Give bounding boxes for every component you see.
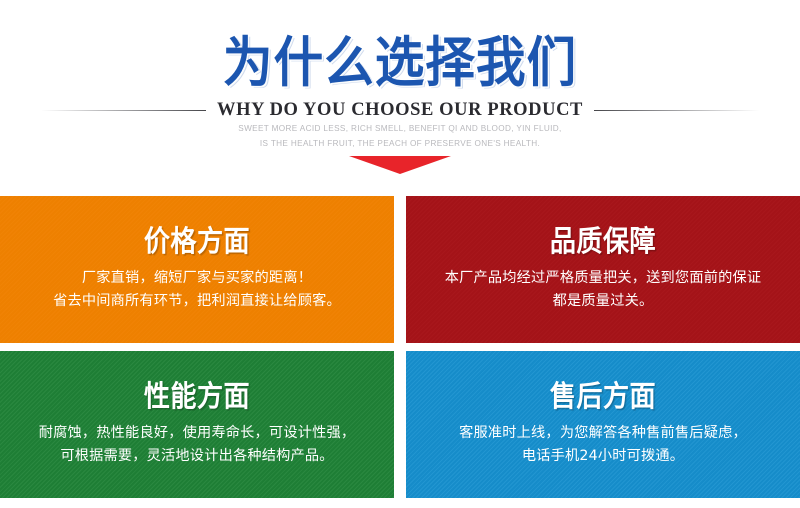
feature-card-line-2: 省去中间商所有环节，把利润直接让给顾客。 (0, 290, 394, 313)
feature-card-line-1: 厂家直销，缩短厂家与买家的距离！ (0, 267, 394, 290)
down-arrow-icon (349, 156, 451, 174)
banner-header: 为什么选择我们 WHY DO YOU CHOOSE OUR PRODUCT SW… (0, 0, 800, 190)
feature-card-line-1: 耐腐蚀，热性能良好，使用寿命长，可设计性强， (0, 422, 394, 445)
english-subtitle-row: WHY DO YOU CHOOSE OUR PRODUCT (0, 98, 800, 122)
feature-card-title: 价格方面 (20, 224, 375, 258)
feature-card-line-2: 电话手机24小时可拨通。 (406, 445, 800, 468)
rule-left-decoration (41, 110, 206, 111)
tagline-block: SWEET MORE ACID LESS, RICH SMELL, BENEFI… (0, 122, 800, 151)
feature-card-line-2: 都是质量过关。 (406, 290, 800, 313)
why-choose-us-banner: 为什么选择我们 WHY DO YOU CHOOSE OUR PRODUCT SW… (0, 0, 800, 508)
feature-card-price[interactable]: 价格方面 厂家直销，缩短厂家与买家的距离！ 省去中间商所有环节，把利润直接让给顾… (0, 196, 394, 343)
feature-card-title: 品质保障 (426, 224, 781, 258)
feature-card-body: 本厂产品均经过严格质量把关，送到您面前的保证 都是质量过关。 (406, 267, 800, 313)
feature-card-body: 耐腐蚀，热性能良好，使用寿命长，可设计性强， 可根据需要，灵活地设计出各种结构产… (0, 422, 394, 468)
feature-card-grid: 价格方面 厂家直销，缩短厂家与买家的距离！ 省去中间商所有环节，把利润直接让给顾… (0, 196, 800, 508)
feature-card-line-2: 可根据需要，灵活地设计出各种结构产品。 (0, 445, 394, 468)
rule-right-decoration (594, 110, 759, 111)
feature-card-line-1: 本厂产品均经过严格质量把关，送到您面前的保证 (406, 267, 800, 290)
feature-card-after-sales[interactable]: 售后方面 客服准时上线，为您解答各种售前售后疑虑， 电话手机24小时可拨通。 (406, 351, 800, 498)
feature-card-line-1: 客服准时上线，为您解答各种售前售后疑虑， (406, 422, 800, 445)
feature-card-body: 客服准时上线，为您解答各种售前售后疑虑， 电话手机24小时可拨通。 (406, 422, 800, 468)
feature-card-performance[interactable]: 性能方面 耐腐蚀，热性能良好，使用寿命长，可设计性强， 可根据需要，灵活地设计出… (0, 351, 394, 498)
tagline-line-1: SWEET MORE ACID LESS, RICH SMELL, BENEFI… (0, 122, 800, 137)
page-title: 为什么选择我们 (32, 34, 768, 92)
feature-card-quality[interactable]: 品质保障 本厂产品均经过严格质量把关，送到您面前的保证 都是质量过关。 (406, 196, 800, 343)
feature-card-body: 厂家直销，缩短厂家与买家的距离！ 省去中间商所有环节，把利润直接让给顾客。 (0, 267, 394, 313)
feature-card-title: 性能方面 (20, 379, 375, 413)
tagline-line-2: IS THE HEALTH FRUIT, THE PEACH OF PRESER… (0, 137, 800, 152)
english-subtitle: WHY DO YOU CHOOSE OUR PRODUCT (206, 100, 594, 120)
feature-card-title: 售后方面 (426, 379, 781, 413)
